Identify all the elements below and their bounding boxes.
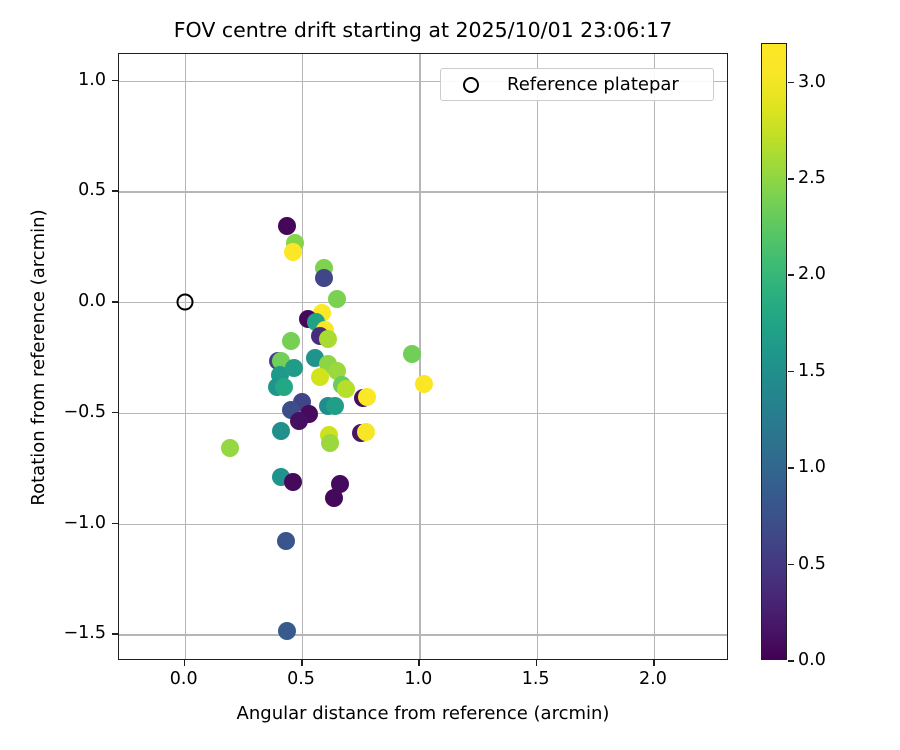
colorbar-tick-label: 1.0 xyxy=(798,457,826,477)
x-axis-tick xyxy=(653,660,655,666)
figure-canvas: FOV centre drift starting at 2025/10/01 … xyxy=(0,0,900,750)
x-axis-tick-label: 2.0 xyxy=(639,669,667,689)
y-axis-tick-label: 1.0 xyxy=(78,70,106,90)
gridline-vertical xyxy=(302,54,303,659)
page-title: FOV centre drift starting at 2025/10/01 … xyxy=(118,18,728,42)
x-axis-tick xyxy=(184,660,186,666)
scatter-point xyxy=(319,330,337,348)
y-axis-tick xyxy=(112,190,118,192)
gridline-vertical xyxy=(537,54,538,659)
scatter-point xyxy=(277,532,295,550)
scatter-point xyxy=(284,473,302,491)
gridline-horizontal xyxy=(119,524,727,525)
x-axis-tick-label: 1.0 xyxy=(404,669,432,689)
y-axis-tick xyxy=(112,301,118,303)
colorbar-tick xyxy=(788,564,794,566)
y-axis-tick-label: −1.5 xyxy=(64,623,107,643)
y-axis-tick xyxy=(112,523,118,525)
scatter-point xyxy=(358,388,376,406)
y-axis-tick xyxy=(112,412,118,414)
colorbar-tick-label: 2.5 xyxy=(798,168,826,188)
colorbar-tick xyxy=(788,82,794,84)
x-axis-tick xyxy=(418,660,420,666)
gridline-horizontal xyxy=(119,413,727,414)
x-axis-tick-label: 0.5 xyxy=(287,669,315,689)
colorbar-tick xyxy=(788,660,794,662)
x-axis-label: Angular distance from reference (arcmin) xyxy=(118,703,728,724)
colorbar-tick xyxy=(788,178,794,180)
legend: Reference platepar xyxy=(440,68,714,101)
x-axis-tick-label: 0.0 xyxy=(170,669,198,689)
colorbar-tick-label: 1.5 xyxy=(798,361,826,381)
scatter-point xyxy=(325,489,343,507)
scatter-point xyxy=(357,423,375,441)
gridline-horizontal xyxy=(119,302,727,303)
scatter-point xyxy=(290,412,308,430)
gridline-vertical xyxy=(654,54,655,659)
colorbar-tick-label: 0.0 xyxy=(798,650,826,670)
colorbar-tick xyxy=(788,467,794,469)
scatter-point xyxy=(311,368,329,386)
gridline-vertical xyxy=(185,54,186,659)
scatter-point xyxy=(278,217,296,235)
scatter-point xyxy=(278,622,296,640)
scatter-point xyxy=(221,439,239,457)
scatter-point xyxy=(326,397,344,415)
colorbar-tick-label: 0.5 xyxy=(798,554,826,574)
colorbar xyxy=(761,43,787,660)
scatter-point xyxy=(321,434,339,452)
colorbar-tick xyxy=(788,371,794,373)
x-axis-tick xyxy=(536,660,538,666)
colorbar-tick-label: 2.0 xyxy=(798,264,826,284)
y-axis-tick-label: −0.5 xyxy=(64,402,107,422)
scatter-point xyxy=(337,380,355,398)
gridline-horizontal xyxy=(119,191,727,192)
scatter-point xyxy=(275,378,293,396)
scatter-point xyxy=(315,269,333,287)
scatter-point xyxy=(403,345,421,363)
plot-area xyxy=(118,53,728,660)
scatter-point xyxy=(328,290,346,308)
scatter-point xyxy=(285,359,303,377)
y-axis-tick-label: −1.0 xyxy=(64,513,107,533)
x-axis-tick xyxy=(301,660,303,666)
reference-platepar-point xyxy=(176,294,193,311)
y-axis-tick xyxy=(112,633,118,635)
y-axis-tick xyxy=(112,80,118,82)
y-axis-label: Rotation from reference (arcmin) xyxy=(28,54,49,661)
legend-entry-label: Reference platepar xyxy=(507,74,679,95)
scatter-point xyxy=(284,243,302,261)
gridline-horizontal xyxy=(119,634,727,635)
y-axis-tick-label: 0.0 xyxy=(78,291,106,311)
reference-platepar-marker-icon xyxy=(463,77,479,93)
y-axis-tick-label: 0.5 xyxy=(78,180,106,200)
colorbar-tick-label: 3.0 xyxy=(798,72,826,92)
scatter-point xyxy=(415,375,433,393)
scatter-point xyxy=(272,422,290,440)
scatter-point xyxy=(282,332,300,350)
colorbar-tick xyxy=(788,274,794,276)
x-axis-tick-label: 1.5 xyxy=(522,669,550,689)
